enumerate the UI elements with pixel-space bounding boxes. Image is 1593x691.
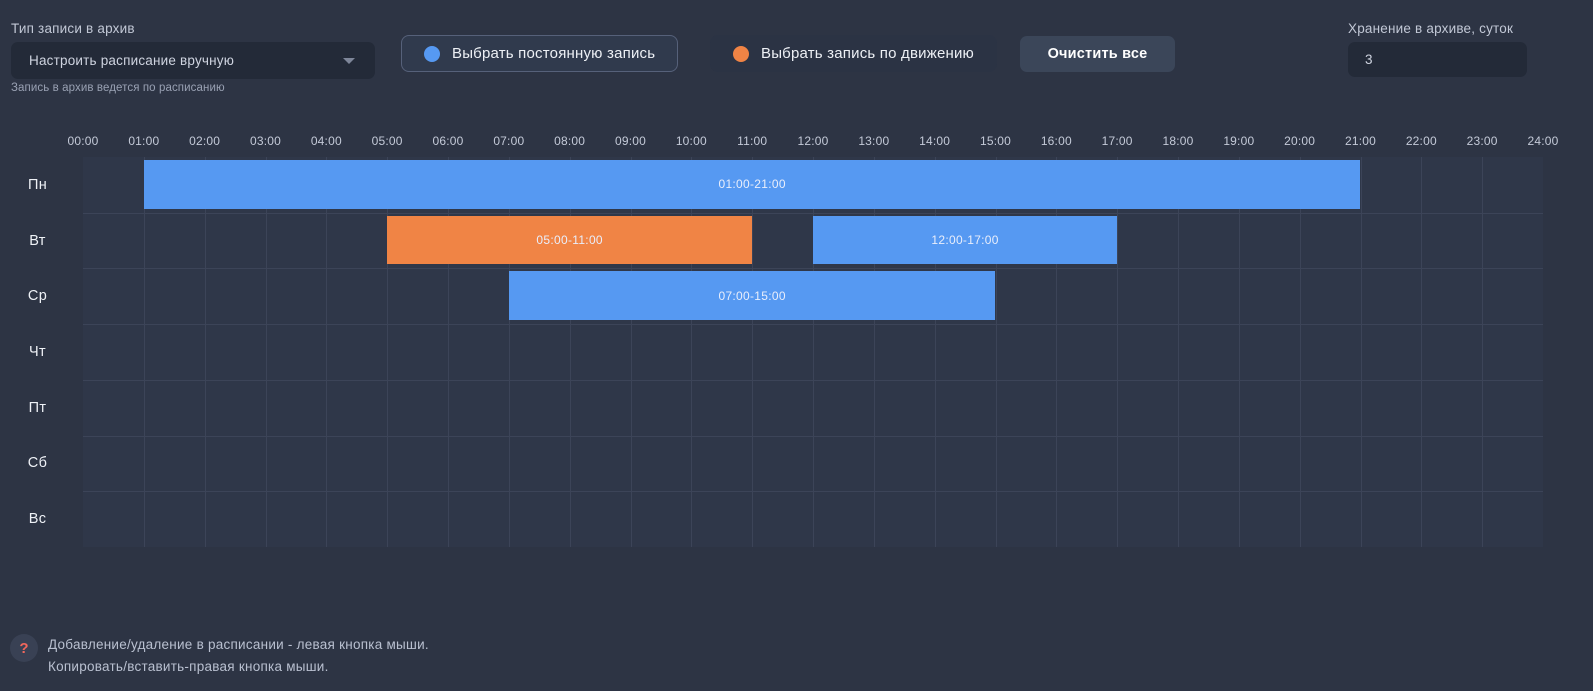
time-tick: 24:00	[1527, 134, 1558, 148]
select-constant-recording-button[interactable]: Выбрать постоянную запись	[401, 35, 678, 72]
time-tick: 12:00	[797, 134, 828, 148]
grid-line-vertical	[205, 157, 206, 547]
time-tick: 14:00	[919, 134, 950, 148]
grid-line-vertical	[1482, 157, 1483, 547]
grid-line-vertical	[752, 157, 753, 547]
grid-line-vertical	[1239, 157, 1240, 547]
help-line-2: Копировать/вставить-правая кнопка мыши.	[48, 656, 429, 678]
schedule-block[interactable]: 12:00-17:00	[813, 216, 1117, 265]
grid-line-horizontal	[83, 268, 1543, 269]
grid-line-vertical	[1300, 157, 1301, 547]
schedule-block[interactable]: 05:00-11:00	[387, 216, 752, 265]
time-tick: 08:00	[554, 134, 585, 148]
select-constant-recording-label: Выбрать постоянную запись	[452, 45, 655, 62]
time-tick: 13:00	[858, 134, 889, 148]
day-label-3: Чт	[0, 344, 75, 360]
time-tick: 23:00	[1467, 134, 1498, 148]
time-tick: 20:00	[1284, 134, 1315, 148]
time-tick: 09:00	[615, 134, 646, 148]
time-tick: 06:00	[432, 134, 463, 148]
day-label-4: Пт	[0, 400, 75, 416]
record-type-value: Настроить расписание вручную	[11, 53, 234, 68]
constant-color-dot	[424, 46, 440, 62]
schedule-block[interactable]: 01:00-21:00	[144, 160, 1361, 209]
record-type-hint: Запись в архив ведется по расписанию	[11, 82, 225, 94]
time-tick: 07:00	[493, 134, 524, 148]
grid-line-vertical	[266, 157, 267, 547]
day-label-0: Пн	[0, 177, 75, 193]
grid-line-horizontal	[83, 380, 1543, 381]
grid-line-vertical	[1421, 157, 1422, 547]
schedule-grid[interactable]: 01:00-21:0005:00-11:0012:00-17:0007:00-1…	[83, 157, 1543, 547]
time-tick: 16:00	[1041, 134, 1072, 148]
grid-line-vertical	[326, 157, 327, 547]
time-tick: 04:00	[311, 134, 342, 148]
time-tick: 03:00	[250, 134, 281, 148]
record-type-select[interactable]: Настроить расписание вручную	[11, 42, 375, 79]
help-footer: ? Добавление/удаление в расписании - лев…	[0, 615, 1593, 691]
time-tick: 00:00	[67, 134, 98, 148]
select-motion-recording-button[interactable]: Выбрать запись по движению	[710, 35, 997, 72]
motion-color-dot	[733, 46, 749, 62]
schedule-block[interactable]: 07:00-15:00	[509, 271, 996, 320]
help-icon[interactable]: ?	[10, 634, 38, 662]
day-label-5: Сб	[0, 455, 75, 471]
grid-line-vertical	[1361, 157, 1362, 547]
day-label-1: Вт	[0, 233, 75, 249]
storage-days-input[interactable]	[1348, 42, 1527, 77]
record-type-label: Тип записи в архив	[11, 21, 135, 36]
time-tick: 11:00	[737, 134, 767, 148]
time-tick: 18:00	[1162, 134, 1193, 148]
select-motion-recording-label: Выбрать запись по движению	[761, 45, 974, 62]
help-text: Добавление/удаление в расписании - левая…	[48, 634, 429, 678]
time-tick: 10:00	[676, 134, 707, 148]
time-axis: 00:0001:0002:0003:0004:0005:0006:0007:00…	[83, 134, 1543, 154]
clear-all-button[interactable]: Очистить все	[1020, 36, 1175, 72]
grid-line-vertical	[1117, 157, 1118, 547]
time-tick: 02:00	[189, 134, 220, 148]
time-tick: 19:00	[1223, 134, 1254, 148]
time-tick: 17:00	[1102, 134, 1133, 148]
grid-line-horizontal	[83, 436, 1543, 437]
help-line-1: Добавление/удаление в расписании - левая…	[48, 634, 429, 656]
schedule-panel: 00:0001:0002:0003:0004:0005:0006:0007:00…	[0, 112, 1593, 557]
grid-line-horizontal	[83, 491, 1543, 492]
time-tick: 21:00	[1345, 134, 1376, 148]
storage-days-label: Хранение в архиве, суток	[1348, 21, 1513, 36]
time-tick: 22:00	[1406, 134, 1437, 148]
day-label-2: Ср	[0, 288, 75, 304]
time-tick: 01:00	[128, 134, 159, 148]
day-label-6: Вс	[0, 511, 75, 527]
grid-line-horizontal	[83, 213, 1543, 214]
grid-line-horizontal	[83, 324, 1543, 325]
chevron-down-icon	[343, 58, 355, 64]
time-tick: 05:00	[372, 134, 403, 148]
grid-line-vertical	[1178, 157, 1179, 547]
time-tick: 15:00	[980, 134, 1011, 148]
day-labels: ПнВтСрЧтПтСбВс	[0, 157, 83, 547]
toolbar: Тип записи в архив Настроить расписание …	[0, 0, 1593, 112]
grid-line-vertical	[144, 157, 145, 547]
